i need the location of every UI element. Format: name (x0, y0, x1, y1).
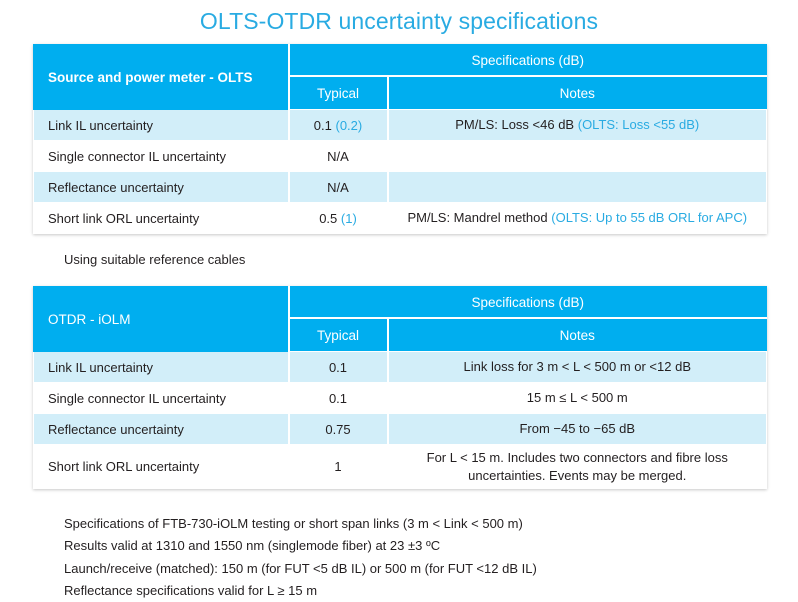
notes-text: PM/LS: Mandrel method (407, 210, 547, 225)
table-row: Link IL uncertainty 0.1 (0.2) PM/LS: Los… (34, 110, 767, 141)
iolm-corner-header: OTDR - iOLM (34, 287, 289, 352)
typical-accent: (1) (341, 211, 357, 226)
typical-value: 0.1 (314, 118, 332, 133)
olts-table-body: Link IL uncertainty 0.1 (0.2) PM/LS: Los… (34, 110, 767, 234)
iolm-header-row-1: OTDR - iOLM Specifications (dB) (34, 287, 767, 319)
table-row: Short link ORL uncertainty 0.5 (1) PM/LS… (34, 203, 767, 234)
row-notes: Link loss for 3 m < L < 500 m or <12 dB (388, 352, 767, 383)
row-notes: 15 m ≤ L < 500 m (388, 383, 767, 414)
row-notes: PM/LS: Loss <46 dB (OLTS: Loss <55 dB) (388, 110, 767, 141)
row-typical: 1 (289, 445, 388, 489)
iolm-specifications-table: OTDR - iOLM Specifications (dB) Typical … (33, 286, 767, 489)
footer-note-line: Launch/receive (matched): 150 m (for FUT… (0, 558, 798, 580)
row-label: Reflectance uncertainty (34, 414, 289, 445)
row-typical: 0.5 (1) (289, 203, 388, 234)
iolm-column-header-typical: Typical (289, 318, 388, 351)
notes-text: PM/LS: Loss <46 dB (455, 117, 574, 132)
footer-note-line: Reflectance specifications valid for L ≥… (0, 580, 798, 602)
page-title: OLTS-OTDR uncertainty specifications (0, 0, 798, 44)
row-label: Short link ORL uncertainty (34, 445, 289, 489)
olts-header-row-1: Source and power meter - OLTS Specificat… (34, 45, 767, 77)
olts-table-head: Source and power meter - OLTS Specificat… (34, 45, 767, 110)
table-row: Reflectance uncertainty 0.75 From −45 to… (34, 414, 767, 445)
iolm-table-head: OTDR - iOLM Specifications (dB) Typical … (34, 287, 767, 352)
row-typical: 0.1 (289, 352, 388, 383)
row-label: Link IL uncertainty (34, 110, 289, 141)
row-label: Single connector IL uncertainty (34, 141, 289, 172)
row-label: Link IL uncertainty (34, 352, 289, 383)
row-notes (388, 141, 767, 172)
row-notes: For L < 15 m. Includes two connectors an… (388, 445, 767, 489)
olts-specifications-table: Source and power meter - OLTS Specificat… (33, 44, 767, 234)
footer-note-line: Results valid at 1310 and 1550 nm (singl… (0, 535, 798, 557)
olts-corner-header: Source and power meter - OLTS (34, 45, 289, 110)
typical-value: N/A (327, 149, 349, 164)
table-row: Single connector IL uncertainty 0.1 15 m… (34, 383, 767, 414)
table-row: Reflectance uncertainty N/A (34, 172, 767, 203)
olts-group-header: Specifications (dB) (289, 45, 767, 77)
notes-accent: (OLTS: Up to 55 dB ORL for APC) (551, 210, 747, 225)
row-typical: 0.1 (0.2) (289, 110, 388, 141)
footer-notes: Specifications of FTB-730-iOLM testing o… (0, 489, 798, 602)
row-label: Reflectance uncertainty (34, 172, 289, 203)
olts-column-header-typical: Typical (289, 76, 388, 109)
row-typical: 0.75 (289, 414, 388, 445)
iolm-table-body: Link IL uncertainty 0.1 Link loss for 3 … (34, 352, 767, 489)
row-typical: N/A (289, 141, 388, 172)
table-row: Short link ORL uncertainty 1 For L < 15 … (34, 445, 767, 489)
footer-note-line: Specifications of FTB-730-iOLM testing o… (0, 513, 798, 535)
iolm-group-header: Specifications (dB) (289, 287, 767, 319)
typical-value: N/A (327, 180, 349, 195)
typical-accent: (0.2) (335, 118, 362, 133)
olts-column-header-notes: Notes (388, 76, 767, 109)
row-notes: From −45 to −65 dB (388, 414, 767, 445)
row-label: Short link ORL uncertainty (34, 203, 289, 234)
row-notes: PM/LS: Mandrel method (OLTS: Up to 55 dB… (388, 203, 767, 234)
reference-cables-note: Using suitable reference cables (0, 234, 798, 286)
row-typical: N/A (289, 172, 388, 203)
iolm-column-header-notes: Notes (388, 318, 767, 351)
notes-accent: (OLTS: Loss <55 dB) (578, 117, 700, 132)
typical-value: 0.5 (319, 211, 337, 226)
row-typical: 0.1 (289, 383, 388, 414)
table-row: Single connector IL uncertainty N/A (34, 141, 767, 172)
table-row: Link IL uncertainty 0.1 Link loss for 3 … (34, 352, 767, 383)
row-label: Single connector IL uncertainty (34, 383, 289, 414)
row-notes (388, 172, 767, 203)
